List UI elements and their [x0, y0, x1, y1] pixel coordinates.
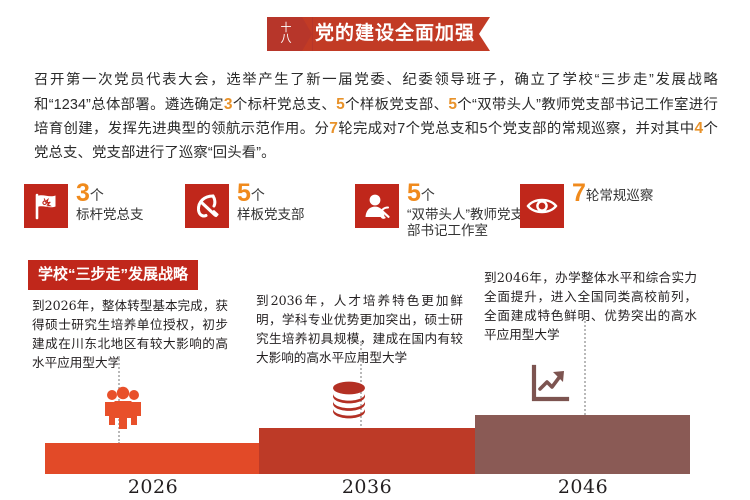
infographic-page: 十 八 党的建设全面加强 召开第一次党员代表大会，选举产生了新一届党委、纪委领导…	[0, 0, 750, 500]
intro-highlight-number: 3	[224, 96, 233, 113]
banner-notch	[479, 17, 490, 51]
bar-2026	[45, 443, 259, 474]
milestone-text-2026: 到2026年，整体转型基本完成，获得硕士研究生培养单位授权，初步建成在川东北地区…	[32, 296, 228, 372]
stat-unit: 个	[421, 185, 435, 205]
growth-chart-icon	[528, 362, 572, 411]
banner-title: 党的建设全面加强	[313, 17, 479, 51]
year-label-2026: 2026	[78, 476, 228, 498]
stat-item-dual-leader-studio: 5个 “双带头人”教师党支部书记工作室	[355, 184, 535, 239]
stat-text: 5个 “双带头人”教师党支部书记工作室	[407, 181, 535, 239]
stat-caption: “双带头人”教师党支部书记工作室	[407, 207, 535, 239]
stat-item-inspection-rounds: 7轮常规巡察	[520, 184, 653, 228]
banner-number-bottom: 八	[281, 34, 292, 45]
intro-paragraph: 召开第一次党员代表大会，选举产生了新一届党委、纪委领导班子，确立了学校“三步走”…	[34, 69, 718, 165]
bar-2046	[475, 415, 690, 474]
stat-item-benchmark-branch: 3个 标杆党总支	[24, 184, 144, 228]
stat-text: 5个 样板党支部	[237, 181, 305, 223]
stat-value: 5	[407, 181, 421, 206]
stat-value: 5	[237, 181, 251, 206]
milestone-text-2046: 到2046年，办学整体水平和综合实力全面提升，进入全国同类高校前列，全面建成特色…	[484, 268, 697, 344]
eye-inspection-icon	[520, 184, 564, 228]
stat-unit: 个	[251, 185, 265, 205]
stat-value: 3	[76, 181, 90, 206]
intro-highlight-number: 5	[448, 96, 457, 113]
stat-text: 3个 标杆党总支	[76, 181, 144, 223]
banner-chevron-divider	[303, 17, 313, 51]
party-member-icon	[355, 184, 399, 228]
year-label-2036: 2036	[292, 476, 442, 498]
intro-highlight-number: 5	[336, 96, 345, 113]
connector-dotline-2046	[584, 318, 586, 423]
banner-session-number: 十 八	[267, 17, 303, 51]
stat-value: 7	[572, 181, 586, 206]
stat-item-model-branch: 5个 样板党支部	[185, 184, 305, 228]
strategy-label: 学校“三步走”发展战略	[28, 260, 198, 290]
intro-highlight-number: 4	[695, 120, 704, 137]
coin-stack-icon	[327, 378, 371, 427]
stat-caption: 标杆党总支	[76, 207, 144, 223]
stat-caption: 轮常规巡察	[586, 188, 654, 203]
bar-2036	[259, 428, 475, 474]
stat-caption: 样板党支部	[237, 207, 305, 223]
stat-unit: 个	[90, 185, 104, 205]
three-people-icon	[100, 385, 146, 436]
intro-highlight-number: 7	[329, 120, 338, 137]
party-flag-icon	[24, 184, 68, 228]
stat-text: 7轮常规巡察	[572, 181, 653, 206]
stat-row: 3个 标杆党总支 5个 样板党支部	[24, 184, 734, 246]
hammer-sickle-icon	[185, 184, 229, 228]
title-banner: 十 八 党的建设全面加强	[267, 17, 490, 51]
year-label-2046: 2046	[508, 476, 658, 498]
